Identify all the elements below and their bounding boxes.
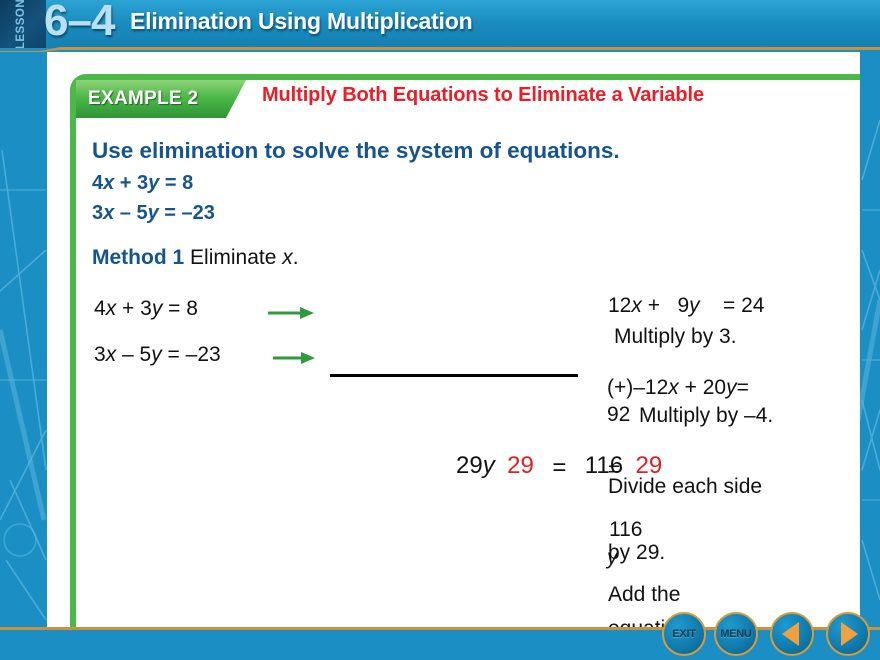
exit-button[interactable]: EXIT [662, 612, 706, 656]
left-equation-1: 4x + 3y = 8 [94, 297, 198, 321]
fraction-left-numerator: 29y [452, 452, 499, 479]
arrow-right-icon-1 [268, 305, 316, 321]
navigation-buttons: EXIT MENU [662, 610, 880, 656]
note-divide-line-1: Divide each side [608, 475, 762, 499]
menu-button-label: MENU [714, 612, 758, 656]
right-note-multiply-3: Multiply by 3. [614, 325, 737, 349]
arrow-right-icon [826, 612, 870, 656]
arrow-left-icon [770, 612, 814, 656]
method-label: Method 1 [92, 246, 184, 269]
instruction-text: Use elimination to solve the system of e… [92, 138, 620, 164]
left-equation-2: 3x – 5y = –23 [94, 343, 221, 367]
right-note-multiply-neg4: Multiply by –4. [639, 404, 773, 428]
page-title: Elimination Using Multiplication [130, 8, 472, 35]
right-equation-2-continuation: 92 [607, 403, 630, 427]
exit-button-label: EXIT [662, 612, 706, 656]
method-text: Eliminate x. [190, 246, 299, 269]
system-equation-2: 3x – 5y = –23 [92, 202, 215, 225]
next-button[interactable] [826, 612, 870, 656]
example-title: Multiply Both Equations to Eliminate a V… [262, 84, 704, 107]
fraction-left-denominator: 29 [503, 452, 538, 479]
note-add-line-1: Add the [608, 583, 680, 607]
right-variable-y: y [607, 546, 618, 570]
slide-root: LESSON 6–4 Elimination Using Multiplicat… [0, 0, 880, 660]
header-divider [0, 46, 880, 51]
right-equation-2: (+)–12x + 20y= [607, 376, 749, 400]
menu-button[interactable]: MENU [714, 612, 758, 656]
lesson-word-label: LESSON [0, 0, 43, 48]
lesson-number: 6–4 [44, 0, 114, 46]
system-equation-1: 4x + 3y = 8 [92, 172, 193, 195]
previous-button[interactable] [770, 612, 814, 656]
fraction-equals-sign: = [542, 454, 576, 482]
fraction-left: 29y 29 [452, 453, 538, 478]
example-badge: EXAMPLE 2 [76, 80, 276, 118]
method-line: Method 1 Eliminate x. [92, 246, 299, 270]
arrow-right-icon-2 [273, 350, 317, 366]
right-value-116: 116 [609, 518, 642, 542]
example-badge-label: EXAMPLE 2 [88, 88, 198, 110]
header-bar: LESSON 6–4 Elimination Using Multiplicat… [0, 0, 880, 48]
sum-horizontal-rule [330, 374, 578, 377]
right-equation-1: 12x + 9y = 24 [608, 294, 764, 318]
